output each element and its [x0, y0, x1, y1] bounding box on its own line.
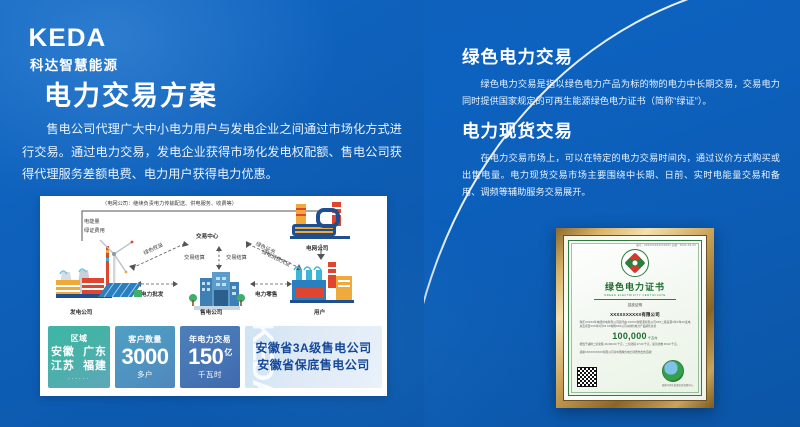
- certificate-footer-row: 国家可再生能源信息管理中心: [577, 360, 693, 387]
- diagram-center-title: 交易中心: [196, 232, 218, 240]
- brand-logo: KEDA 科达智慧能源: [30, 26, 118, 74]
- office-building-icon: [188, 270, 246, 310]
- grid-company-icon: [290, 202, 352, 242]
- certificate-frame: 编号：XXXXXXXXXXXXXXX 日期：XXXX-XX-XX 绿色电力证书 …: [556, 228, 714, 408]
- stat-card-volume: 年电力交易 150亿 千瓦时: [180, 326, 240, 388]
- stat-caption: 区域: [71, 333, 88, 344]
- stat-card-customers: 客户数量 3000 多户: [115, 326, 175, 388]
- badge-line-2: 安徽省保底售电公司: [257, 357, 370, 374]
- section-heading: 绿色电力交易: [462, 44, 780, 69]
- stat-number: 150: [188, 344, 223, 369]
- qr-code-icon: [577, 367, 597, 387]
- stat-caption: 客户数量: [128, 334, 162, 345]
- certificate-detail: 相当于减排二氧化碳 49,300.00 千克，二氧化硫 47.00 千克，氮氧化…: [580, 343, 691, 347]
- region-item: 江苏: [51, 360, 75, 372]
- certificate-amount-number: 100,000: [612, 331, 647, 341]
- certificate-emblem-icon: [621, 249, 649, 277]
- diagram-node-generation: 发电公司: [70, 308, 92, 316]
- diagram-top-note: （电网公司：继续负责电力传输配送、供电服务、收费等）: [102, 200, 237, 207]
- badge-line-1: 安徽省3A级售电公司: [255, 340, 371, 357]
- section-green-power-trading: 绿色电力交易 绿色电力交易是指以绿色电力产品为标的物的电力中长期交易，交易电力同…: [462, 44, 780, 110]
- stat-value: 150亿: [188, 347, 232, 368]
- region-item: 广东: [83, 346, 107, 358]
- electricity-trading-diagram: （电网公司：继续负责电力传输配送、供电服务、收费等） 电能量 绿证费用 交易中心: [40, 196, 387, 322]
- diagram-node-grid: 电网公司: [306, 244, 328, 252]
- certificate-seal-icon: [662, 360, 684, 382]
- diagram-retail-arrow: [250, 280, 292, 288]
- stat-card-region: 区域 安徽 广东 江苏 福建 ......: [48, 326, 110, 388]
- section-body: 绿色电力交易是指以绿色电力产品为标的物的电力中长期交易，交易电力同时提供国家规定…: [462, 76, 780, 110]
- certificate-footnote: 感谢XXXXXXXXXX有限公司对中国绿色电力消费作出的贡献！: [580, 351, 691, 355]
- certificate-title-english: GREEN ELECTRICITY CERTIFICATE: [604, 294, 666, 297]
- certificate-divider: [594, 299, 676, 300]
- region-ellipsis: ......: [68, 375, 90, 381]
- page-lead-paragraph: 售电公司代理广大中小电力用户与发电企业之间通过市场化方式进行交易。通过电力交易，…: [22, 118, 402, 186]
- stat-unit: 亿: [224, 348, 232, 357]
- certificate-seal-caption: 国家可再生能源信息管理中心: [662, 383, 693, 387]
- stat-subunit: 千瓦时: [198, 369, 222, 380]
- page-title: 电力交易方案: [44, 74, 218, 113]
- certificate-amount: 100,000千瓦时: [612, 331, 658, 341]
- section-spot-trading: 电力现货交易 在电力交易市场上，可以在特定的电力交易时间内，通过议价方式购买或出…: [462, 118, 780, 201]
- stat-value: 3000: [122, 347, 169, 368]
- certificate-subtitle: 兹皮证明: [628, 303, 642, 308]
- stat-subunit: 多户: [137, 369, 153, 380]
- poster-root: KEDA 科达智慧能源 电力交易方案 售电公司代理广大中小电力用户与发电企业之间…: [0, 0, 800, 427]
- user-factory-icon: [290, 258, 356, 306]
- section-body: 在电力交易市场上，可以在特定的电力交易时间内，通过议价方式购买或出售电量。电力现…: [462, 150, 780, 201]
- diagram-node-sales: 售电公司: [200, 308, 222, 316]
- certificate-company: XXXXXXXXXX有限公司: [610, 312, 660, 318]
- diagram-left-meta-1: 电能量: [84, 218, 100, 225]
- certificate-title: 绿色电力证书: [605, 280, 665, 293]
- certificate-serial-note: 编号：XXXXXXXXXXXXXXX 日期：XXXX-XX-XX: [636, 243, 696, 247]
- stats-strip: 区域 安徽 广东 江苏 福建 ...... 客户数量 3000 多户 年电力交易…: [48, 326, 382, 388]
- logo-wordmark: KEDA: [29, 26, 107, 51]
- green-electricity-certificate: 编号：XXXXXXXXXXXXXXX 日期：XXXX-XX-XX 绿色电力证书 …: [568, 240, 702, 396]
- stat-region-values: 安徽 广东 江苏 福建: [51, 346, 107, 374]
- certificate-mat: 编号：XXXXXXXXXXXXXXX 日期：XXXX-XX-XX 绿色电力证书 …: [563, 235, 707, 401]
- diagram-node-user: 用户: [314, 308, 325, 316]
- region-item: 福建: [83, 360, 107, 372]
- solar-panel-icon: [96, 280, 144, 298]
- logo-subtitle: 科达智慧能源: [30, 54, 118, 74]
- qualification-badge: KEDA 安徽省3A级售电公司 安徽省保底售电公司: [245, 326, 382, 388]
- section-heading: 电力现货交易: [462, 118, 780, 143]
- certificate-body: 购买XXXXX年电能用电有限公司受托由 XXXXX新能源有限公司XXX二级富源X…: [580, 321, 691, 329]
- diagram-settlement-right: 交易结算: [226, 254, 247, 261]
- diagram-retail-label: 电力零售: [255, 290, 277, 298]
- certificate-seal-block: 国家可再生能源信息管理中心: [662, 360, 693, 387]
- diagram-wholesale-label: 电力批发: [141, 290, 163, 298]
- diagram-left-meta-2: 绿证费用: [84, 227, 105, 234]
- region-item: 安徽: [51, 346, 75, 358]
- diagram-settlement-arrow: [214, 246, 224, 270]
- certificate-amount-unit: 千瓦时: [648, 336, 658, 340]
- diagram-settlement-left: 交易结算: [184, 254, 205, 261]
